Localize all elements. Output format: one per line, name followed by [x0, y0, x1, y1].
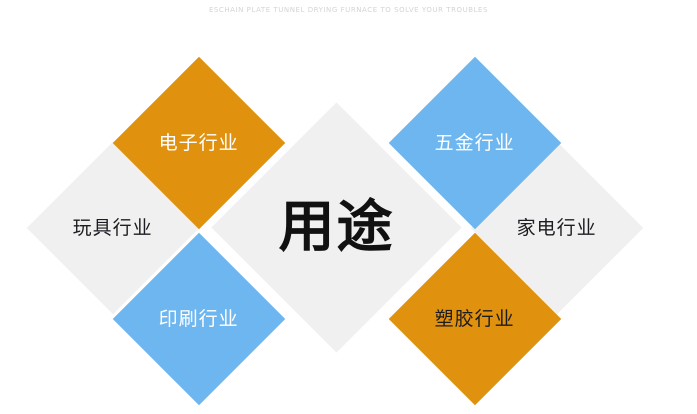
diagram-canvas: ESCHAIN PLATE TUNNEL DRYING FURNACE TO S… — [0, 0, 697, 414]
diamond-label-appliances: 家电行业 — [517, 218, 597, 237]
usage-diamond-diagram: 玩具行业 家电行业 电子行业 印刷行业 五金行业 塑胶行业 用途 — [0, 0, 697, 414]
diamond-label-toys: 玩具行业 — [73, 218, 153, 237]
diamond-label-plastics: 塑胶行业 — [435, 309, 515, 328]
diamond-label-printing: 印刷行业 — [159, 309, 239, 328]
diamond-label-electronics: 电子行业 — [159, 133, 239, 152]
diamond-label-hardware: 五金行业 — [435, 133, 515, 152]
diamond-label-center-usage: 用途 — [279, 200, 395, 256]
